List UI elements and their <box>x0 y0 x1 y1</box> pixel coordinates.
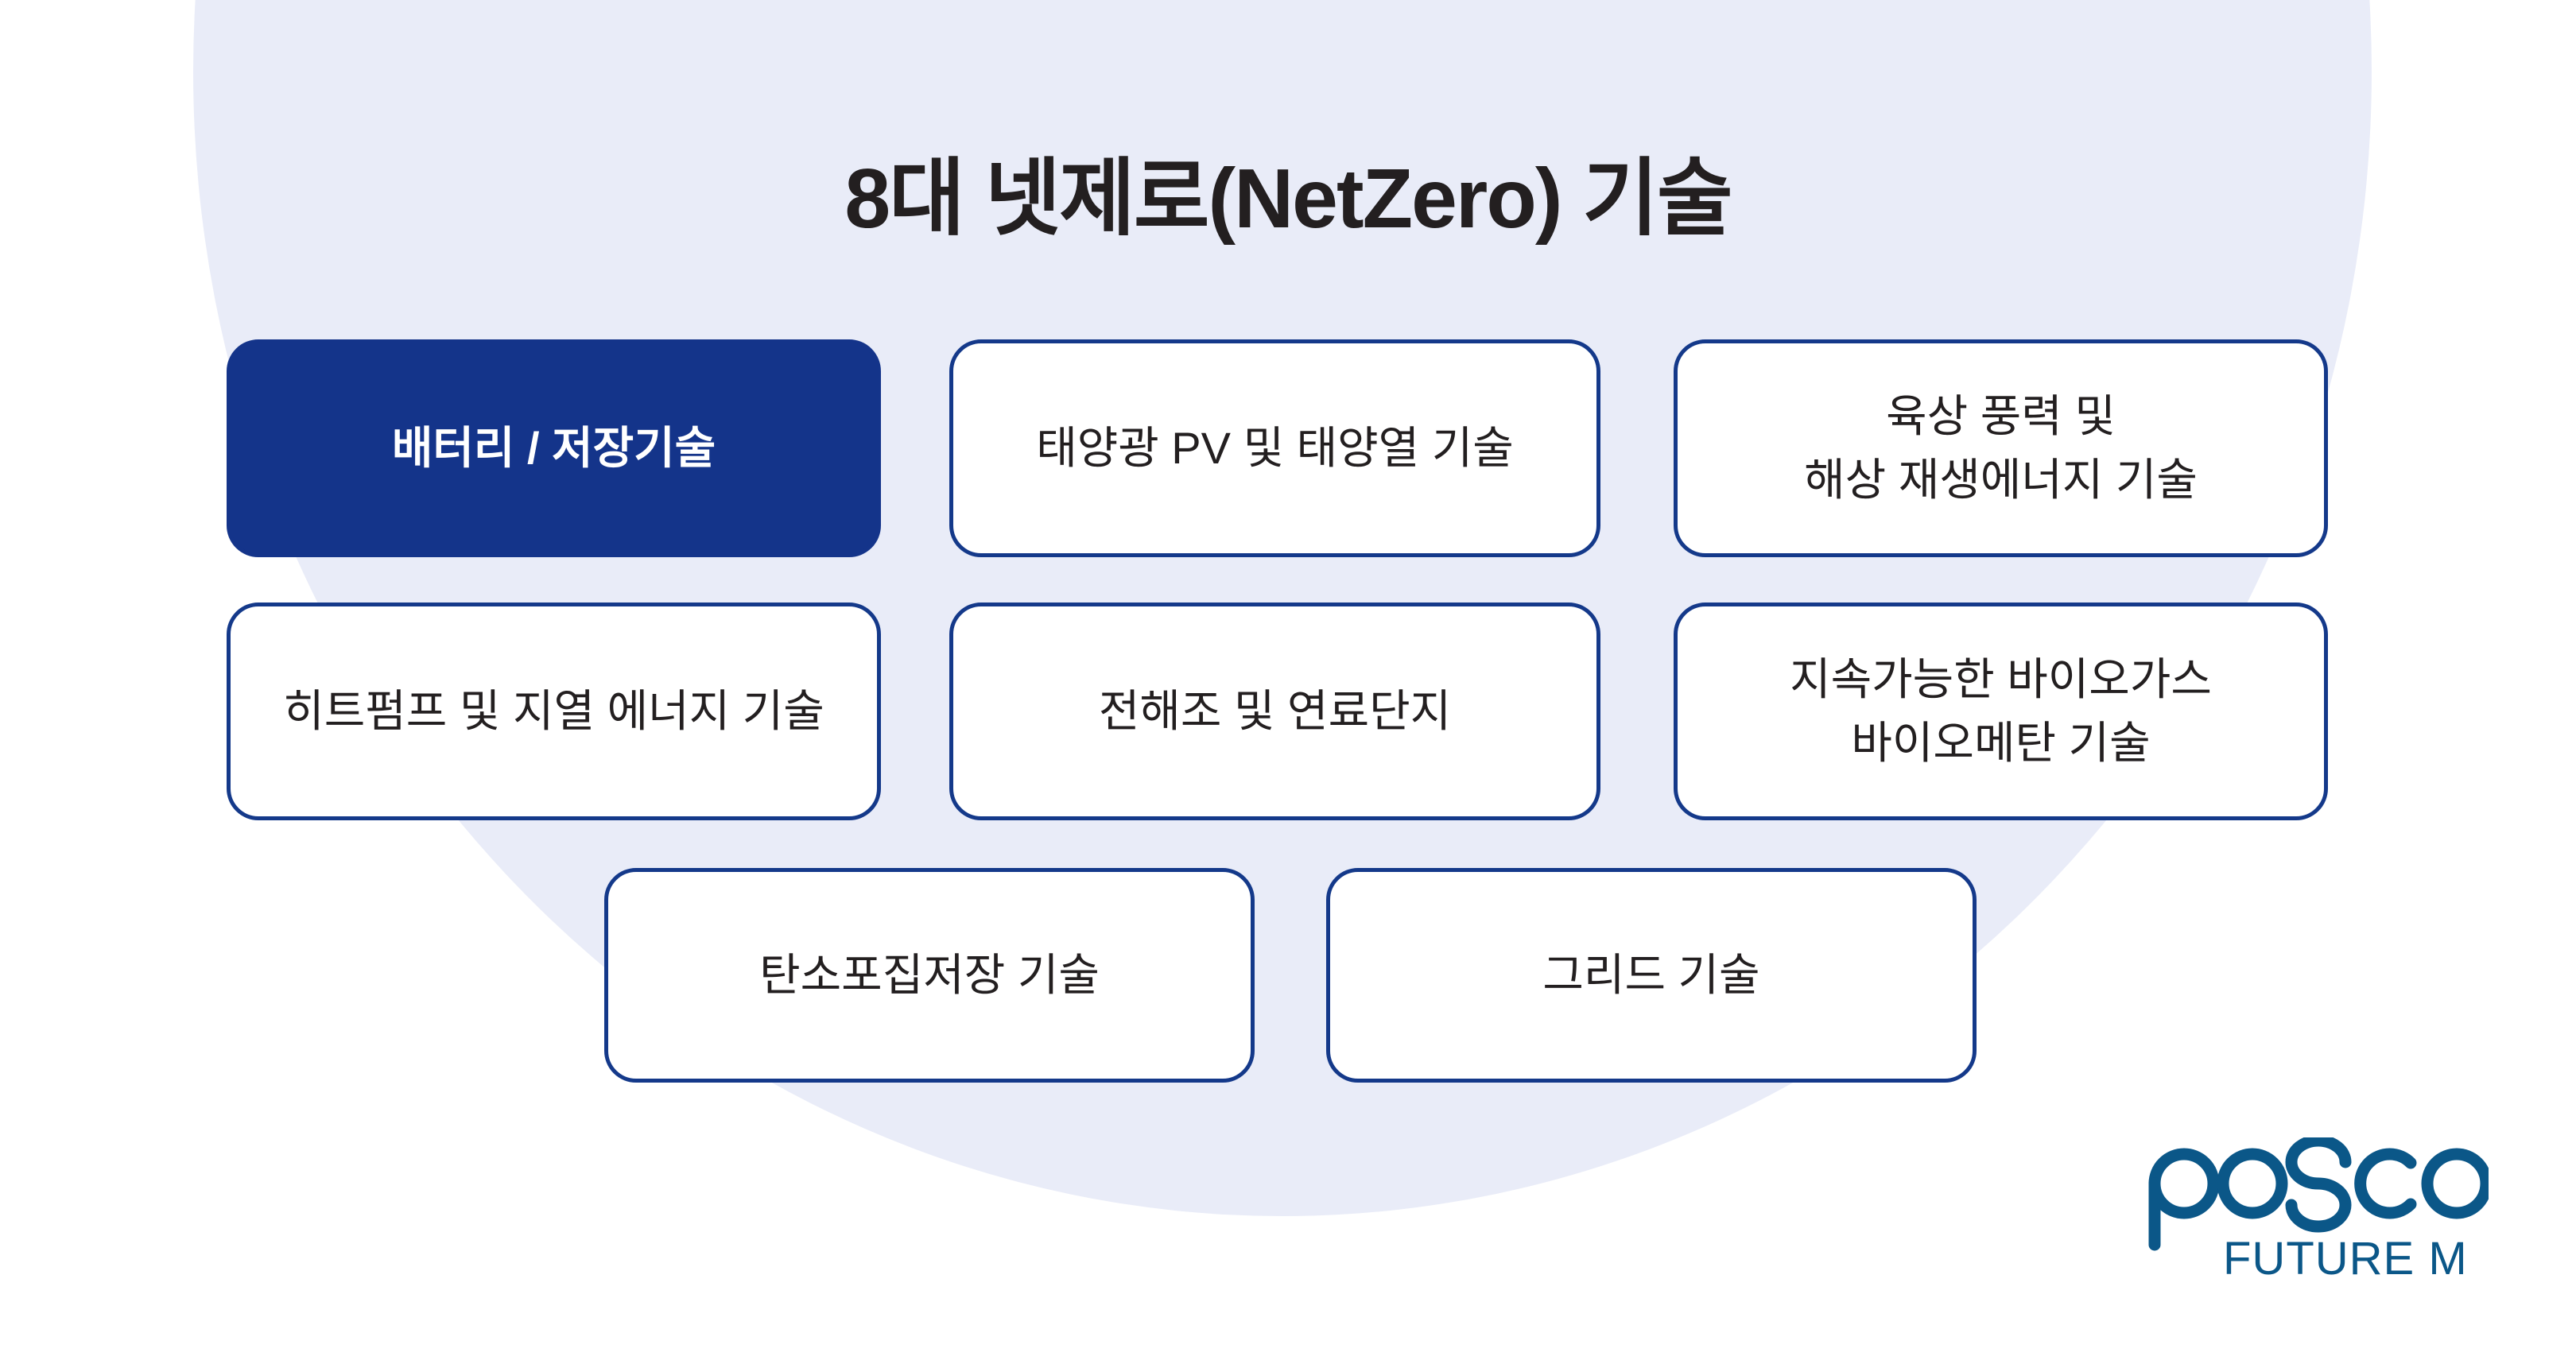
tech-card-label: 지속가능한 바이오가스 바이오메탄 기술 <box>1790 648 2212 774</box>
tech-card-label: 육상 풍력 및 해상 재생에너지 기술 <box>1804 385 2198 511</box>
tech-card-label: 배터리 / 저장기술 <box>392 417 716 480</box>
tech-card-sustainable-biogas-biomethane[interactable]: 지속가능한 바이오가스 바이오메탄 기술 <box>1674 603 2328 820</box>
tech-card-label: 히트펌프 및 지열 에너지 기술 <box>283 680 824 743</box>
tech-card-electrolyzer-fuel-complex[interactable]: 전해조 및 연료단지 <box>949 603 1600 820</box>
posco-future-m-logo: FUTURE M <box>2147 1137 2489 1284</box>
tech-card-label: 그리드 기술 <box>1542 943 1759 1007</box>
tech-card-battery-storage[interactable]: 배터리 / 저장기술 <box>227 339 881 557</box>
tech-card-carbon-capture-storage[interactable]: 탄소포집저장 기술 <box>604 868 1255 1083</box>
tech-card-label: 전해조 및 연료단지 <box>1099 680 1451 743</box>
slide-canvas: 8대 넷제로(NetZero) 기술 배터리 / 저장기술 태양광 PV 및 태… <box>0 0 2576 1360</box>
tech-card-grid[interactable]: 그리드 기술 <box>1326 868 1977 1083</box>
logo-subtext: FUTURE M <box>2223 1233 2468 1284</box>
tech-card-label: 탄소포집저장 기술 <box>759 943 1100 1007</box>
tech-card-solar-pv-thermal[interactable]: 태양광 PV 및 태양열 기술 <box>949 339 1600 557</box>
tech-card-onshore-wind-offshore-renewable[interactable]: 육상 풍력 및 해상 재생에너지 기술 <box>1674 339 2328 557</box>
tech-card-heatpump-geothermal[interactable]: 히트펌프 및 지열 에너지 기술 <box>227 603 881 820</box>
page-title: 8대 넷제로(NetZero) 기술 <box>25 146 2550 252</box>
tech-card-label: 태양광 PV 및 태양열 기술 <box>1036 417 1514 480</box>
